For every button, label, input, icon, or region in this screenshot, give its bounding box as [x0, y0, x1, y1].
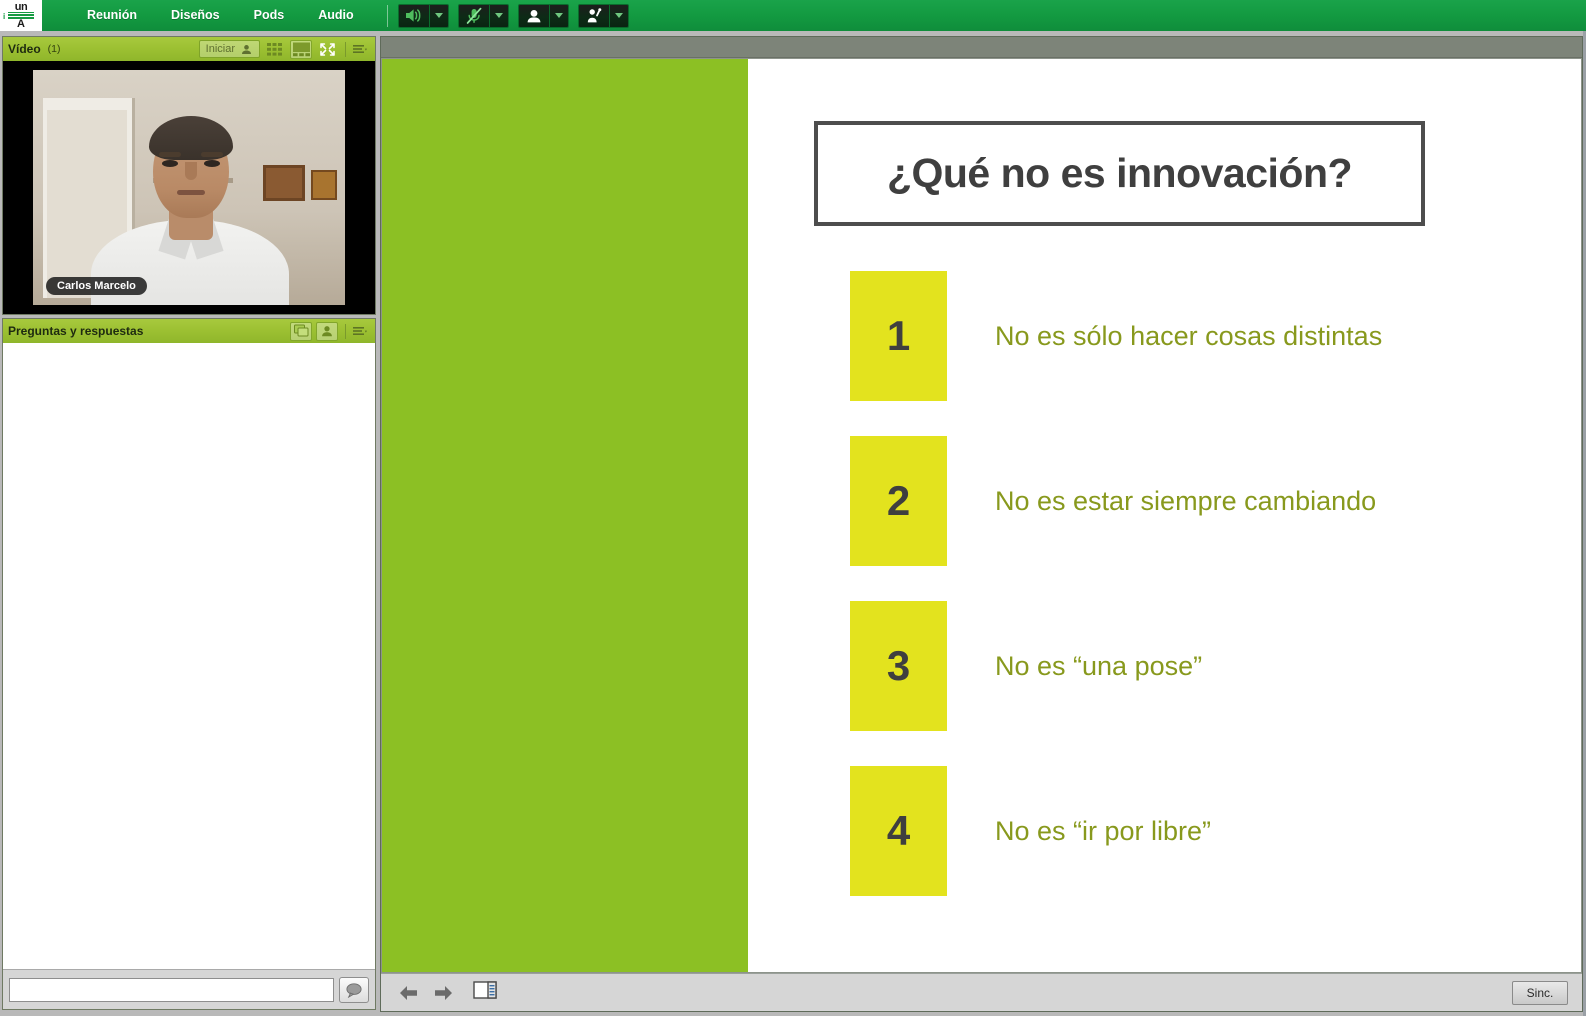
slide-item: 4 No es “ir por libre”: [850, 766, 1550, 896]
raise-hand-button[interactable]: [578, 4, 610, 28]
logo-letter-un: un: [15, 3, 27, 12]
participant-view-button[interactable]: [316, 322, 338, 341]
speaker-icon: [404, 7, 423, 24]
share-pod-footer: Sinc.: [381, 973, 1582, 1011]
logo-letter-i: i: [3, 12, 5, 21]
video-stage[interactable]: Carlos Marcelo: [3, 61, 375, 314]
raise-hand-dropdown-button[interactable]: [610, 4, 629, 28]
slide-item-text: No es “ir por libre”: [995, 816, 1211, 847]
menu-item-disenos[interactable]: Diseños: [154, 0, 237, 31]
video-pod-tools: Iniciar: [199, 40, 370, 59]
speaker-button[interactable]: [398, 4, 430, 28]
video-pod-menu-button[interactable]: [353, 44, 370, 55]
slide-item-list: 1 No es sólo hacer cosas distintas 2 No …: [850, 271, 1550, 931]
participant-video-feed: Carlos Marcelo: [33, 70, 345, 305]
video-person-eye-left: [162, 160, 178, 167]
camera-button[interactable]: [518, 4, 550, 28]
raise-hand-button-group: [578, 4, 629, 28]
pod-tool-divider: [345, 42, 346, 57]
video-person-mouth: [177, 190, 205, 195]
microphone-muted-icon: [465, 7, 483, 25]
fullscreen-button[interactable]: [316, 40, 338, 59]
presenter-view-icon: [294, 324, 309, 338]
video-pod-title: Vídeo: [8, 42, 41, 56]
qa-send-button[interactable]: [339, 977, 369, 1003]
start-webcam-label: Iniciar: [206, 43, 235, 55]
filmstrip-view-icon: [292, 42, 311, 57]
video-wall-picture-2: [311, 170, 337, 200]
qa-pod-menu-button[interactable]: [353, 326, 370, 337]
slide-title-box: ¿Qué no es innovación?: [814, 121, 1425, 226]
participant-view-icon: [320, 324, 334, 338]
microphone-button-group: [458, 4, 509, 28]
qa-pod-title: Preguntas y respuestas: [8, 324, 143, 338]
grid-view-button[interactable]: [264, 40, 286, 59]
video-pod: Vídeo (1) Iniciar: [2, 36, 376, 315]
video-wall-picture-1: [263, 165, 305, 201]
qa-message-input[interactable]: [9, 978, 334, 1002]
slide-item: 2 No es estar siempre cambiando: [850, 436, 1550, 566]
menu-item-pods[interactable]: Pods: [237, 0, 302, 31]
raise-hand-icon: [585, 7, 603, 25]
webcam-icon: [525, 7, 543, 25]
grid-view-icon: [266, 42, 285, 57]
university-logo: i un A: [0, 0, 42, 31]
qa-pod: Preguntas y respuestas: [2, 318, 376, 1010]
slide-item-number: 1: [850, 271, 947, 401]
logo-letter-a: A: [17, 19, 25, 29]
menu-bar: Reunión Diseños Pods Audio: [70, 0, 371, 31]
video-pod-count: (1): [48, 43, 61, 55]
slide-item-text: No es “una pose”: [995, 651, 1202, 682]
slide-next-button[interactable]: [429, 979, 457, 1007]
slide-item-number: 3: [850, 601, 947, 731]
participant-name-badge: Carlos Marcelo: [46, 277, 147, 295]
chevron-down-icon: [615, 13, 623, 18]
video-person-eye-right: [204, 160, 220, 167]
left-pod-column: Vídeo (1) Iniciar: [2, 36, 376, 1012]
speech-bubble-icon: [345, 982, 363, 998]
sync-button[interactable]: Sinc.: [1512, 981, 1568, 1005]
slide-notes-toggle-button[interactable]: [473, 980, 497, 1005]
slide-title: ¿Qué no es innovación?: [887, 150, 1352, 197]
webcam-icon: [240, 43, 253, 56]
share-pod: ¿Qué no es innovación? 1 No es sólo hace…: [380, 36, 1583, 1012]
chevron-down-icon: [555, 13, 563, 18]
toolbar-divider: [387, 5, 388, 27]
application-toolbar: i un A Reunión Diseños Pods Audio: [0, 0, 1586, 31]
slide-green-sidebar: [382, 59, 748, 972]
microphone-dropdown-button[interactable]: [490, 4, 509, 28]
qa-pod-tools: [290, 322, 370, 341]
video-person-brow-left: [159, 152, 181, 157]
slide-item-number: 4: [850, 766, 947, 896]
fullscreen-icon: [319, 42, 336, 57]
start-webcam-button[interactable]: Iniciar: [199, 40, 260, 58]
connect-meeting-window: i un A Reunión Diseños Pods Audio: [0, 0, 1586, 1016]
slide-previous-button[interactable]: [395, 979, 423, 1007]
slide-item-text: No es estar siempre cambiando: [995, 486, 1376, 517]
pod-menu-icon: [353, 44, 367, 55]
slide-item: 1 No es sólo hacer cosas distintas: [850, 271, 1550, 401]
pod-tool-divider: [345, 324, 346, 339]
camera-button-group: [518, 4, 569, 28]
camera-dropdown-button[interactable]: [550, 4, 569, 28]
video-person-nose: [185, 162, 197, 180]
share-pod-header: [381, 37, 1582, 58]
pod-menu-icon: [353, 326, 367, 337]
chevron-down-icon: [435, 13, 443, 18]
speaker-button-group: [398, 4, 449, 28]
chevron-down-icon: [495, 13, 503, 18]
sidebar-panel-icon: [473, 980, 497, 1000]
menu-item-audio[interactable]: Audio: [301, 0, 370, 31]
arrow-right-icon: [432, 984, 454, 1002]
slide-item-text: No es sólo hacer cosas distintas: [995, 321, 1382, 352]
video-person-brow-right: [201, 152, 223, 157]
filmstrip-view-button[interactable]: [290, 40, 312, 59]
video-pod-header: Vídeo (1) Iniciar: [3, 37, 375, 61]
microphone-button[interactable]: [458, 4, 490, 28]
presentation-stage[interactable]: ¿Qué no es innovación? 1 No es sólo hace…: [381, 58, 1582, 973]
slide-item-number: 2: [850, 436, 947, 566]
qa-pod-header: Preguntas y respuestas: [3, 319, 375, 343]
qa-input-bar: [3, 969, 375, 1009]
presenter-view-button[interactable]: [290, 322, 312, 341]
arrow-left-icon: [398, 984, 420, 1002]
qa-message-list[interactable]: [3, 343, 375, 969]
slide-item: 3 No es “una pose”: [850, 601, 1550, 731]
speaker-dropdown-button[interactable]: [430, 4, 449, 28]
slide-canvas: ¿Qué no es innovación? 1 No es sólo hace…: [382, 59, 1581, 972]
menu-item-reunion[interactable]: Reunión: [70, 0, 154, 31]
